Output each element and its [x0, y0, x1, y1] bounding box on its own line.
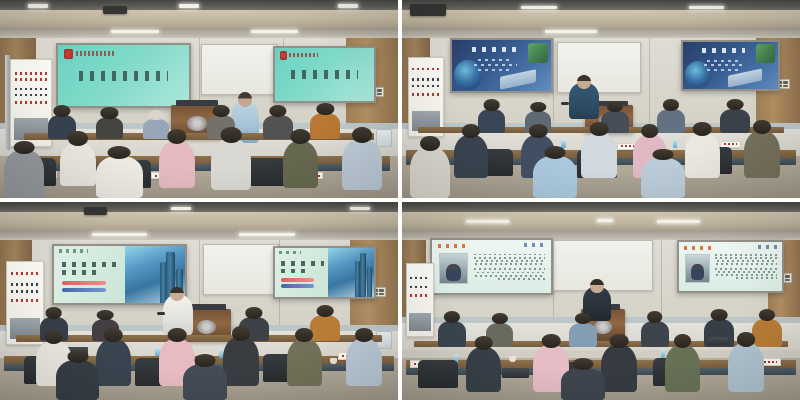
attendee [223, 337, 259, 387]
slide-subtitle-name [478, 59, 514, 61]
ceiling-dark-strip [402, 0, 800, 10]
university-crest-icon [64, 49, 73, 59]
slide-corporate-logo [758, 245, 777, 248]
attendee [641, 158, 685, 198]
attendee [641, 321, 669, 347]
photo-panel-bottom-right [402, 202, 800, 400]
attendee [310, 113, 340, 139]
lecture-hall-scene [0, 202, 398, 400]
banner-line [11, 290, 40, 293]
lecture-hall-scene [402, 202, 800, 400]
ceiling-soffit-lower [0, 28, 398, 38]
slide-speaker-intro [432, 240, 551, 293]
lecture-hall-scene [0, 0, 398, 198]
slide-logo-text [76, 51, 115, 56]
ceiling-light [92, 233, 148, 236]
banner-line [412, 93, 439, 95]
slide-title [438, 244, 469, 248]
ceiling-soffit [0, 10, 398, 28]
slide-title-line-1 [281, 261, 325, 265]
slide-energy [54, 246, 185, 303]
water-bottle [673, 139, 677, 149]
slide-body-line [474, 268, 546, 270]
banner-line [15, 78, 47, 81]
slide-tag-red [62, 281, 107, 285]
whiteboard [201, 44, 277, 95]
attendee [263, 115, 293, 139]
banner-line [15, 72, 47, 75]
attendee [410, 147, 450, 198]
slide-title-line-2 [62, 270, 96, 275]
attendee [466, 347, 502, 393]
rollup-banner [406, 263, 434, 336]
ceiling-light [111, 30, 159, 33]
projector-icon [410, 4, 446, 16]
projection-screen-main [52, 244, 187, 305]
ceiling-light [545, 30, 597, 33]
attendee [601, 345, 637, 393]
podium-emblem [197, 320, 216, 334]
attendee [581, 133, 617, 179]
ceiling-light [350, 207, 370, 210]
attendee [96, 156, 144, 198]
slide-title [684, 246, 711, 250]
attendee [96, 117, 124, 139]
speaker-portrait-photo [439, 253, 468, 284]
slide-tag-red [281, 278, 315, 281]
ceiling-light [657, 220, 701, 223]
slide-body-line [476, 260, 545, 262]
microphone-icon [157, 312, 165, 315]
slide-teal-duplicate [275, 48, 374, 101]
projection-screen-side [273, 46, 376, 103]
banner-line [410, 277, 431, 279]
slide-tag-blue [62, 288, 107, 292]
ceiling-soffit [0, 212, 398, 230]
slide-body-line [717, 260, 777, 262]
banner-line [15, 94, 47, 97]
slide-tag-blue [281, 284, 315, 287]
projector-icon [103, 6, 127, 14]
slide-body-line [716, 263, 777, 265]
ceiling-soffit [402, 10, 800, 28]
attendee [752, 319, 782, 347]
ceiling-light [466, 220, 510, 223]
attendee [665, 345, 701, 393]
attendee [533, 156, 577, 198]
slide-title [702, 48, 745, 53]
banner-line [11, 272, 40, 275]
rollup-banner [408, 57, 444, 136]
ceiling-light [338, 4, 358, 7]
photo-grid [0, 0, 800, 400]
slide-body-line [475, 275, 545, 277]
attendee [96, 339, 132, 387]
microphone-icon [561, 102, 569, 105]
projection-screen-side [681, 40, 781, 91]
slide-subtitle-role [478, 69, 514, 71]
photo-panel-bottom-left [0, 202, 398, 400]
server-board-icon [728, 68, 762, 88]
slide-body-line [736, 277, 777, 279]
slide-speaker-intro-duplicate [679, 242, 782, 291]
slide-ai [452, 40, 551, 91]
projection-screen-main [430, 238, 553, 295]
attendee [4, 150, 44, 198]
slide-brand-logo [279, 251, 301, 254]
photo-panel-top-left [0, 0, 398, 198]
slide-subtitle-affiliation [474, 64, 518, 66]
banner-line [410, 286, 431, 288]
banner-pole [5, 55, 10, 150]
slide-body-line [715, 268, 777, 270]
slide-teal [58, 45, 189, 106]
circuit-chip-icon [528, 43, 548, 64]
ceiling-light [28, 4, 48, 7]
banner-line [412, 85, 439, 87]
wall-seam [649, 38, 650, 127]
attendee [561, 368, 605, 400]
ceiling-light [239, 233, 295, 236]
ceiling-dark-strip [0, 202, 398, 212]
laptop [502, 368, 530, 378]
attendee [438, 321, 466, 347]
slide-subtitle-affiliation [704, 64, 746, 66]
presenter-head [170, 287, 184, 301]
attendee [310, 315, 340, 341]
paper-cup [330, 358, 336, 364]
attendee [283, 141, 319, 189]
podium-emblem [187, 116, 208, 131]
slide-energy-duplicate [275, 248, 374, 297]
attendee [744, 131, 780, 179]
presenter-head [238, 92, 252, 107]
slide-body-line [474, 254, 546, 256]
attendee [56, 360, 100, 400]
banner-line [410, 294, 431, 296]
speaker-portrait-photo [685, 254, 710, 283]
slide-subtitle-role [707, 69, 741, 71]
presenter-head [590, 279, 604, 293]
slide-logo-text [289, 53, 319, 57]
attendee [342, 139, 382, 190]
ceiling-light [521, 6, 557, 9]
chair [247, 158, 287, 186]
attendee [728, 343, 764, 393]
slide-title-calligraphy [79, 71, 168, 81]
banner-line [15, 101, 47, 104]
whiteboard [203, 244, 279, 295]
slide-body-line [718, 271, 777, 273]
attendee [685, 133, 721, 179]
projection-screen-main [56, 43, 191, 108]
lecture-hall-scene [402, 0, 800, 198]
projector-icon [84, 207, 108, 215]
projection-screen-side [273, 246, 376, 299]
recycle-bin [376, 129, 392, 147]
attendee [346, 339, 382, 387]
banner-line [11, 283, 40, 286]
slide-brand-logo [59, 249, 88, 253]
ceiling-light [597, 219, 613, 222]
attendee [454, 135, 488, 179]
whiteboard [557, 42, 641, 93]
slide-ai-duplicate [683, 42, 779, 89]
photo-panel-top-right [402, 0, 800, 198]
slide-body-line [477, 272, 545, 274]
slide-body-line [715, 257, 777, 259]
projection-screen-main [450, 38, 553, 93]
server-board-icon [500, 69, 536, 90]
slide-body-line [716, 274, 777, 276]
slide-title [472, 47, 517, 53]
water-bottle [661, 349, 665, 359]
attendee [159, 141, 195, 189]
circuit-chip-icon [756, 44, 775, 63]
banner-line [11, 299, 40, 302]
ceiling-light [689, 6, 725, 9]
slide-body-line [715, 254, 777, 256]
city-skyline-photo [328, 248, 374, 297]
ceiling-light [171, 207, 191, 210]
attendee [60, 143, 96, 187]
slide-title-calligraphy [291, 70, 359, 79]
slide-corporate-logo [524, 243, 545, 247]
slide-body-line [475, 263, 545, 265]
banner-line [412, 78, 439, 80]
projection-screen-side [677, 240, 784, 293]
banner-photo [409, 313, 431, 332]
ceiling-dark-strip [402, 202, 800, 212]
slide-subtitle-name [707, 60, 741, 62]
slide-body-line [474, 257, 546, 259]
attendee [720, 109, 750, 133]
slide-title-line-2 [281, 269, 307, 273]
laptop [708, 337, 728, 345]
slide-title-line-1 [62, 262, 120, 267]
university-crest-icon [280, 51, 287, 60]
attendee [657, 109, 685, 133]
wall-seam [553, 38, 554, 127]
banner-line [15, 88, 47, 91]
rollup-banner [6, 261, 44, 344]
ceiling-soffit-lower [402, 28, 800, 38]
banner-line [412, 68, 439, 70]
attendee [183, 364, 227, 400]
slide-body-line [498, 278, 546, 280]
ceiling-light [179, 4, 199, 7]
ceiling-light [251, 30, 299, 33]
attendee [287, 339, 323, 387]
chair [418, 360, 458, 388]
attendee [569, 323, 597, 347]
attendee [478, 109, 506, 133]
attendee [143, 119, 169, 139]
attendee [211, 139, 251, 190]
ceiling-soffit-lower [0, 230, 398, 240]
